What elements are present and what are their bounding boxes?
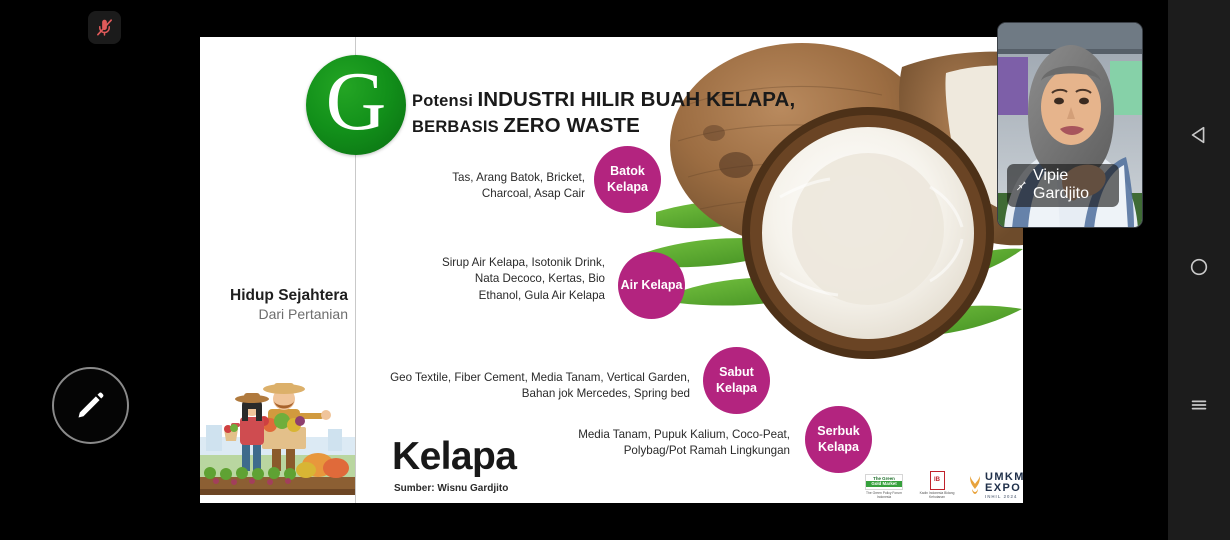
- the-green-caption: The Green Policy Forum Indonesia: [862, 491, 906, 499]
- products-serbuk-line-2: Polybag/Pot Ramah Lingkungan: [390, 443, 790, 459]
- products-air: Sirup Air Kelapa, Isotonik Drink, Nata D…: [300, 255, 605, 304]
- brand-logo: G: [306, 55, 406, 155]
- bubble-serbuk-line-2: Kelapa: [818, 440, 859, 456]
- headline-line-1-small: Potensi: [412, 92, 473, 110]
- participant-name: Vipie Gardjito: [1033, 167, 1089, 203]
- headline-line-1: Potensi INDUSTRI HILIR BUAH KELAPA,: [412, 87, 932, 113]
- microphone-muted-badge[interactable]: [88, 11, 121, 44]
- category-bubble-serbuk: Serbuk Kelapa: [805, 406, 872, 473]
- umkm-line-1: UMKM: [985, 472, 1023, 483]
- participant-name-line-1: Vipie: [1033, 167, 1089, 185]
- bubble-serbuk-line-1: Serbuk: [817, 424, 859, 440]
- bubble-sabut-line-1: Sabut: [719, 365, 754, 381]
- bubble-air-line-1: Air Kelapa: [621, 278, 683, 294]
- products-sabut: Geo Textile, Fiber Cement, Media Tanam, …: [210, 370, 690, 403]
- recents-menu-icon: [1188, 394, 1210, 416]
- home-circle-icon: [1188, 256, 1210, 278]
- brand-letter: G: [326, 60, 387, 144]
- headline-line-1-big: INDUSTRI HILIR BUAH KELAPA,: [477, 88, 795, 111]
- nav-home-button[interactable]: [1168, 244, 1230, 290]
- pencil-icon: [74, 389, 107, 422]
- products-batok-line-1: Tas, Arang Batok, Bricket,: [320, 170, 585, 186]
- logo-umkm-expo: UMKM EXPO INHIL 2024: [968, 472, 1023, 499]
- products-air-line-3: Ethanol, Gula Air Kelapa: [300, 288, 605, 304]
- partner-logos: The Green Gold Market The Green Policy F…: [862, 455, 1017, 499]
- headline-line-2: BERBASIS ZERO WASTE: [412, 113, 932, 139]
- products-serbuk-line-1: Media Tanam, Pupuk Kalium, Coco-Peat,: [390, 427, 790, 443]
- nav-back-button[interactable]: [1168, 112, 1230, 158]
- products-batok-line-2: Charcoal, Asap Cair: [320, 186, 585, 202]
- products-batok: Tas, Arang Batok, Bricket, Charcoal, Asa…: [320, 170, 585, 203]
- logo-kadin: IB Kadin Indonesia Bidang Kehutanan: [915, 471, 959, 499]
- the-green-mark: The Green Gold Market: [865, 474, 903, 490]
- bubble-sabut-line-2: Kelapa: [716, 381, 757, 397]
- category-bubble-sabut: Sabut Kelapa: [703, 347, 770, 414]
- umkm-line-2: EXPO: [985, 483, 1023, 494]
- bubble-batok-line-1: Batok: [610, 164, 645, 180]
- category-bubble-batok: Batok Kelapa: [594, 146, 661, 213]
- umkm-flame-icon: [968, 475, 982, 495]
- slide-source-note: Sumber: Wisnu Gardjito: [394, 483, 508, 494]
- the-green-line-2: Gold Market: [866, 481, 902, 487]
- nav-recents-button[interactable]: [1168, 382, 1230, 428]
- participant-name-line-2: Gardjito: [1033, 185, 1089, 203]
- umkm-line-3: INHIL 2024: [985, 495, 1023, 499]
- microphone-muted-icon: [94, 17, 115, 38]
- bubble-batok-line-2: Kelapa: [607, 180, 648, 196]
- annotate-button[interactable]: [52, 367, 129, 444]
- vegetable-crate: [259, 413, 306, 449]
- products-serbuk: Media Tanam, Pupuk Kalium, Coco-Peat, Po…: [390, 427, 790, 460]
- headline-line-2-small: BERBASIS: [412, 118, 499, 136]
- headline-line-2-big: ZERO WASTE: [503, 114, 640, 137]
- shared-slide[interactable]: G Potensi INDUSTRI HILIR BUAH KELAPA, BE…: [200, 37, 1023, 503]
- logo-the-green: The Green Gold Market The Green Policy F…: [862, 474, 906, 499]
- back-triangle-icon: [1188, 124, 1210, 146]
- participant-video-tile[interactable]: Vipie Gardjito: [997, 22, 1143, 228]
- products-air-line-2: Nata Decoco, Kertas, Bio: [300, 271, 605, 287]
- kadin-caption: Kadin Indonesia Bidang Kehutanan: [915, 491, 959, 499]
- participant-name-plate: Vipie Gardjito: [1007, 164, 1119, 207]
- products-sabut-line-1: Geo Textile, Fiber Cement, Media Tanam, …: [210, 370, 690, 386]
- pin-icon: [1014, 178, 1027, 191]
- products-air-line-1: Sirup Air Kelapa, Isotonik Drink,: [300, 255, 605, 271]
- kadin-mark: IB: [930, 471, 945, 490]
- category-bubble-air: Air Kelapa: [618, 252, 685, 319]
- slide-headline: Potensi INDUSTRI HILIR BUAH KELAPA, BERB…: [412, 87, 932, 139]
- tagline-sub: Dari Pertanian: [210, 306, 348, 324]
- android-navigation-bar: [1168, 0, 1230, 540]
- products-sabut-line-2: Bahan jok Mercedes, Spring bed: [210, 386, 690, 402]
- phone-screen: G Potensi INDUSTRI HILIR BUAH KELAPA, BE…: [0, 0, 1230, 540]
